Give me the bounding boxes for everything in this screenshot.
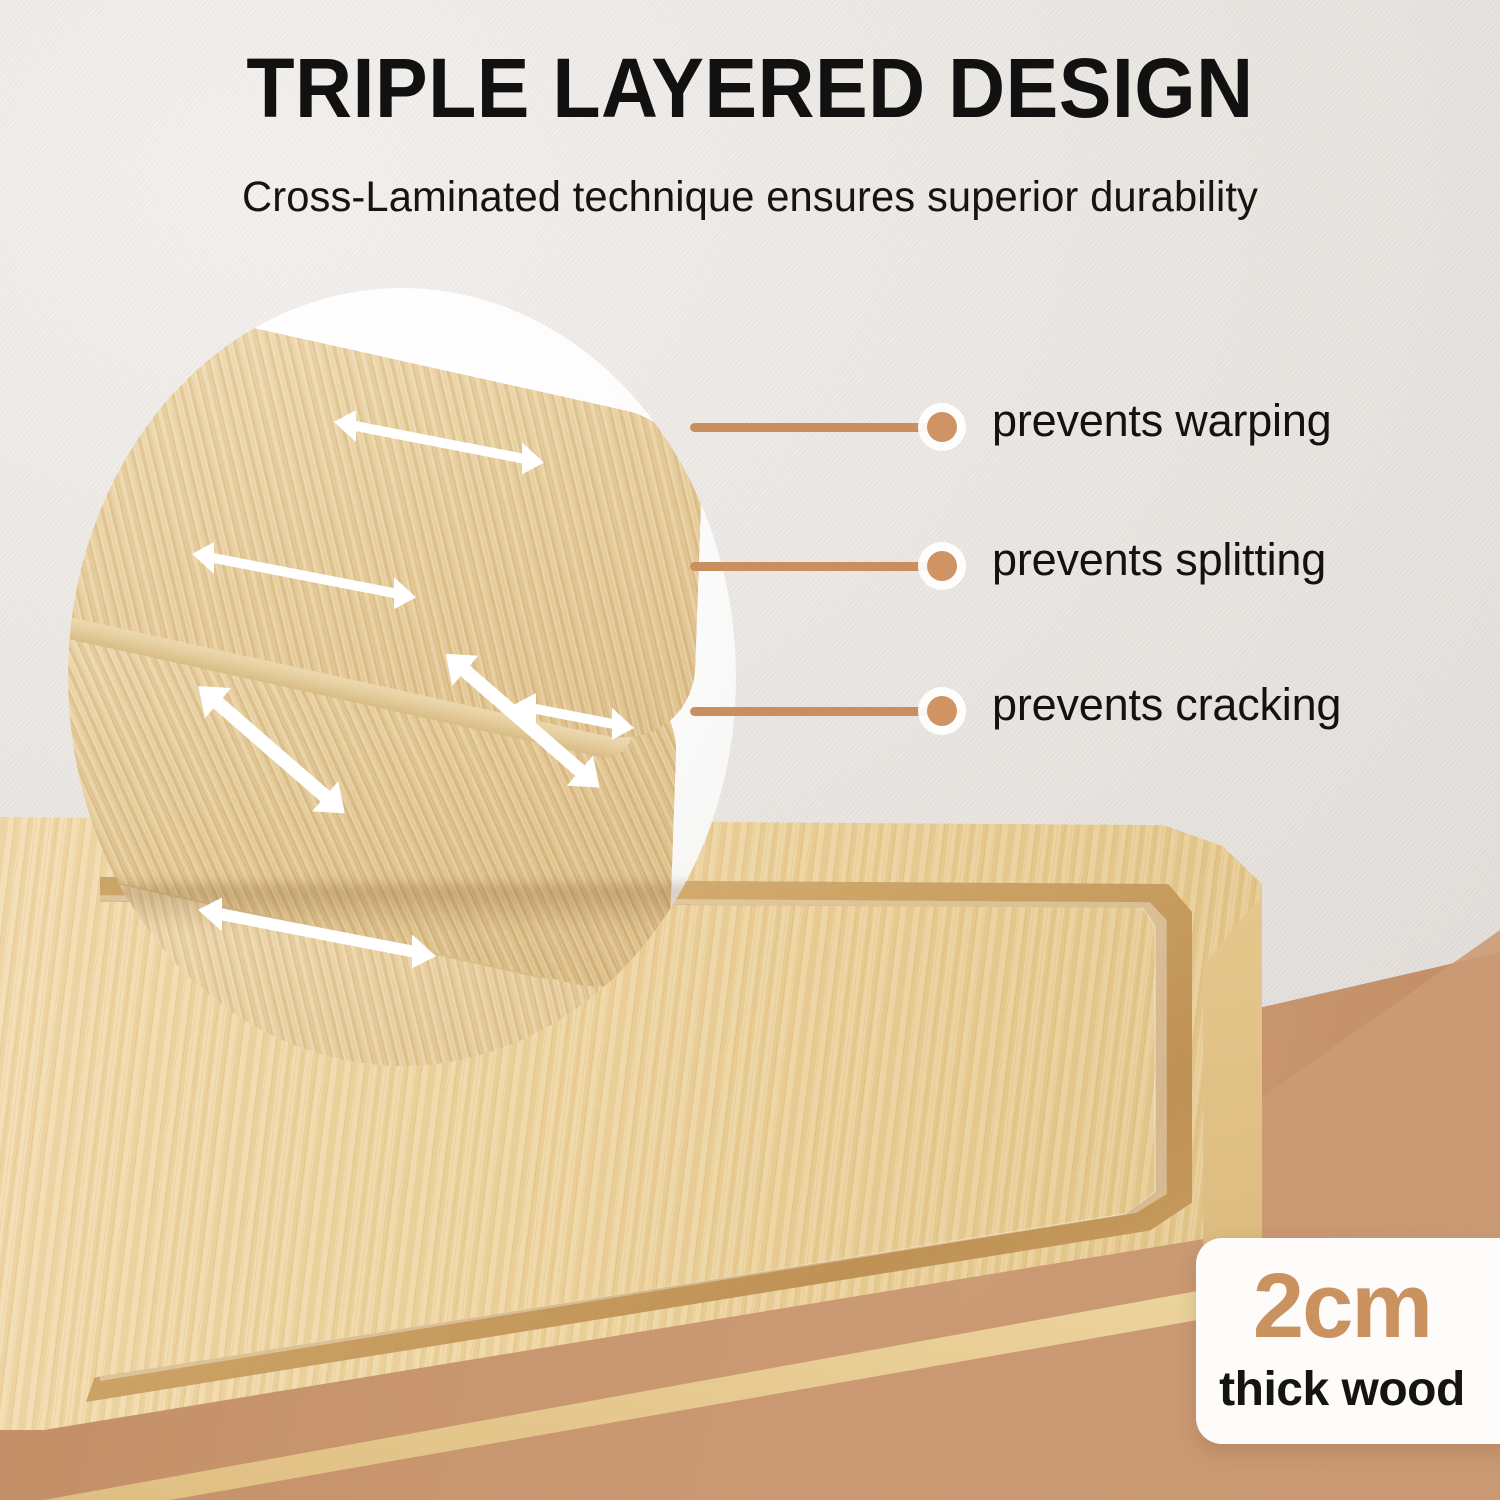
thickness-value: 2cm [1196, 1260, 1488, 1352]
thickness-badge: 2cm thick wood [1196, 1238, 1500, 1444]
callout-label: prevents splitting [992, 537, 1326, 582]
grain-arrow-middle-1 [152, 640, 382, 870]
callout-label: prevents warping [992, 398, 1332, 443]
grain-arrow-top-2 [162, 530, 448, 586]
callout-line [690, 423, 942, 432]
layered-construction-inset [68, 288, 736, 1066]
callout-line [690, 707, 942, 716]
callout-label: prevents cracking [992, 682, 1341, 727]
thickness-caption: thick wood [1196, 1366, 1488, 1414]
page-subtitle: Cross-Laminated technique ensures superi… [23, 176, 1478, 219]
callout-dot [927, 412, 957, 442]
callout-dot [927, 551, 957, 581]
grain-arrow-bottom-2 [168, 884, 468, 942]
grain-arrow-top-1 [304, 398, 574, 452]
infographic-canvas: TRIPLE LAYERED DESIGN Cross-Laminated te… [0, 0, 1500, 1500]
grain-arrow-bottom-1 [500, 684, 660, 738]
callout-line [690, 562, 942, 571]
page-title: TRIPLE LAYERED DESIGN [45, 46, 1455, 130]
callout-dot [927, 696, 957, 726]
